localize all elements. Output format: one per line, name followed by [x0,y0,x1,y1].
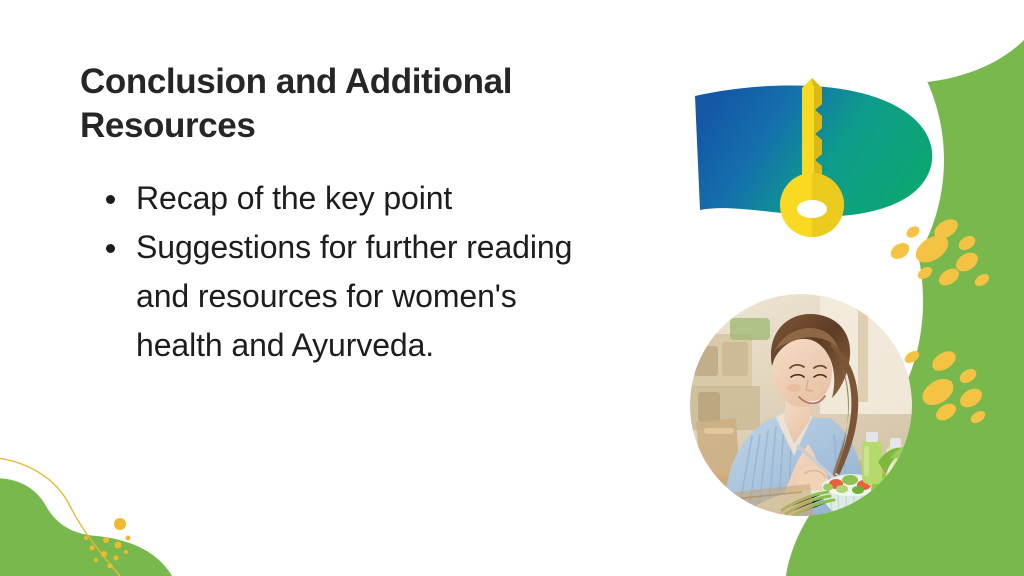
text-content-column: Conclusion and Additional Resources Reca… [80,60,600,371]
bullet-dot-icon [106,195,115,204]
bullet-list: Recap of the key point Suggestions for f… [80,174,600,371]
slide-canvas: Conclusion and Additional Resources Reca… [0,0,1024,576]
list-item: Suggestions for further reading and reso… [106,223,600,370]
list-item: Recap of the key point [106,174,600,223]
green-blob-bottom-left [0,478,172,576]
list-item-label: Suggestions for further reading and reso… [136,229,572,363]
bullet-dot-icon [106,244,115,253]
woman-eating-salad-photo [690,294,912,516]
list-item-label: Recap of the key point [136,180,452,216]
page-title: Conclusion and Additional Resources [80,60,600,148]
